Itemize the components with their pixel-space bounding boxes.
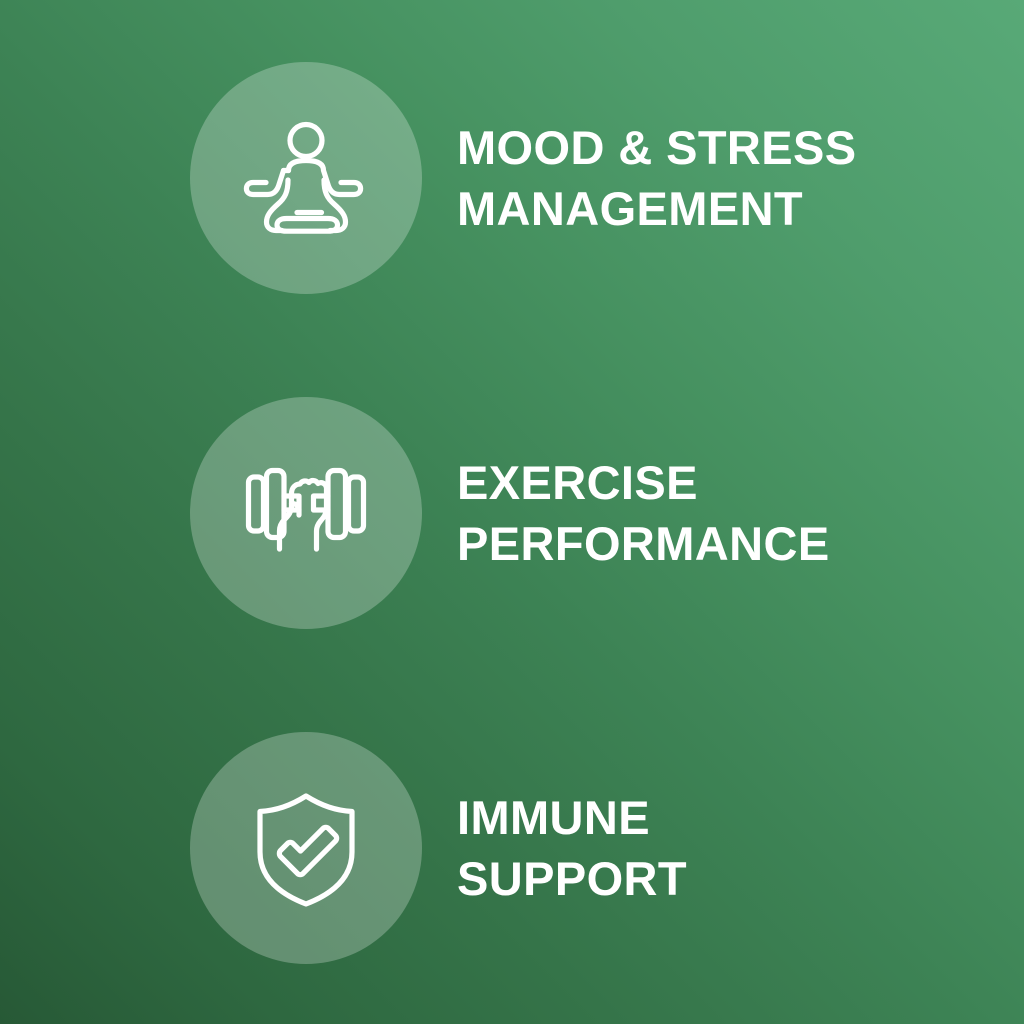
benefit-label-line2: MANAGEMENT	[457, 178, 977, 239]
benefit-label-line1: EXERCISE	[457, 452, 977, 513]
benefit-row: IMMUNE SUPPORT	[0, 732, 1024, 964]
benefit-row: EXERCISE PERFORMANCE	[0, 397, 1024, 629]
benefit-icon-badge	[190, 732, 422, 964]
benefit-label-line1: MOOD & STRESS	[457, 117, 977, 178]
benefit-row: MOOD & STRESS MANAGEMENT	[0, 62, 1024, 294]
benefit-label-line2: SUPPORT	[457, 848, 977, 909]
meditation-lotus-icon	[242, 114, 370, 242]
benefit-icon-badge	[190, 397, 422, 629]
benefit-label: IMMUNE SUPPORT	[457, 732, 977, 964]
shield-check-icon	[242, 784, 370, 912]
benefit-icon-badge	[190, 62, 422, 294]
benefit-label-line1: IMMUNE	[457, 787, 977, 848]
benefit-label: EXERCISE PERFORMANCE	[457, 397, 977, 629]
benefit-label-line2: PERFORMANCE	[457, 513, 977, 574]
benefits-graphic: MOOD & STRESS MANAGEMENT	[0, 0, 1024, 1024]
dumbbell-hand-icon	[242, 449, 370, 577]
benefit-label: MOOD & STRESS MANAGEMENT	[457, 62, 977, 294]
